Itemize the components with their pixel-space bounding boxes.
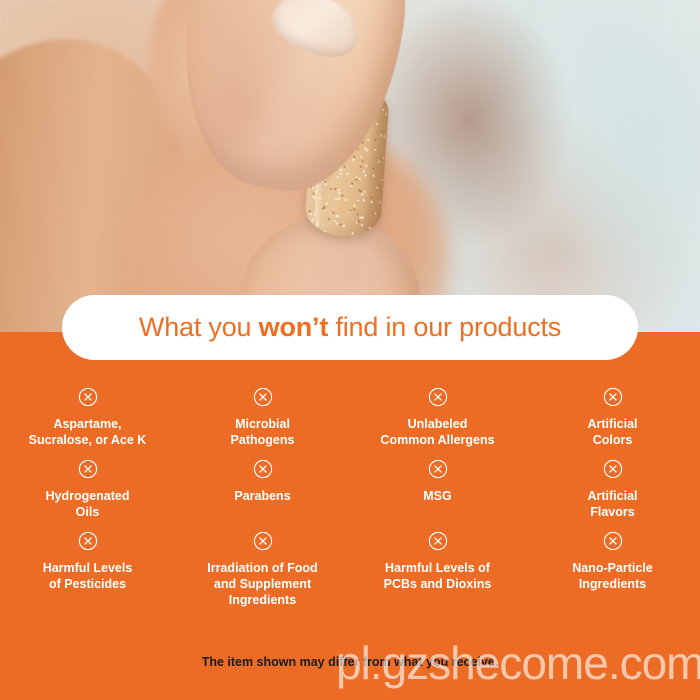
- list-item-label: Aspartame,Sucralose, or Ace K: [29, 416, 147, 448]
- list-item-label: Irradiation of Foodand SupplementIngredi…: [207, 560, 317, 608]
- page-title-part2: find in our products: [328, 312, 561, 342]
- circle-x-icon: [78, 531, 98, 551]
- list-item-label: Nano-ParticleIngredients: [572, 560, 653, 592]
- circle-x-icon: [78, 387, 98, 407]
- list-item-label: ArtificialFlavors: [587, 488, 637, 520]
- hand-holding-tablet-photo: [0, 0, 700, 332]
- circle-x-icon: [78, 459, 98, 479]
- list-item: Irradiation of Foodand SupplementIngredi…: [175, 520, 350, 608]
- list-item-label: Parabens: [234, 488, 290, 504]
- list-item: Nano-ParticleIngredients: [525, 520, 700, 608]
- headline-banner: What you won’t find in our products: [62, 295, 638, 360]
- circle-x-icon: [428, 531, 448, 551]
- circle-x-icon: [253, 459, 273, 479]
- page-title-emphasis: won’t: [259, 312, 328, 342]
- circle-x-icon: [253, 531, 273, 551]
- list-item: Aspartame,Sucralose, or Ace K: [0, 376, 175, 448]
- list-item: Parabens: [175, 448, 350, 520]
- list-item: HydrogenatedOils: [0, 448, 175, 520]
- exclusions-grid: Aspartame,Sucralose, or Ace K MicrobialP…: [0, 376, 700, 608]
- list-item: MicrobialPathogens: [175, 376, 350, 448]
- list-item: UnlabeledCommon Allergens: [350, 376, 525, 448]
- list-item: Harmful Levelsof Pesticides: [0, 520, 175, 608]
- list-item: ArtificialFlavors: [525, 448, 700, 520]
- list-item-label: Harmful Levelsof Pesticides: [43, 560, 133, 592]
- circle-x-icon: [603, 387, 623, 407]
- list-item-label: UnlabeledCommon Allergens: [380, 416, 494, 448]
- disclaimer-text: The item shown may differ from what you …: [0, 655, 700, 669]
- list-item-label: Harmful Levels ofPCBs and Dioxins: [384, 560, 492, 592]
- circle-x-icon: [603, 531, 623, 551]
- circle-x-icon: [428, 459, 448, 479]
- product-infographic: What you won’t find in our products Aspa…: [0, 0, 700, 700]
- list-item-label: MicrobialPathogens: [231, 416, 295, 448]
- list-item: ArtificialColors: [525, 376, 700, 448]
- page-title-part1: What you: [139, 312, 259, 342]
- circle-x-icon: [253, 387, 273, 407]
- list-item: MSG: [350, 448, 525, 520]
- circle-x-icon: [428, 387, 448, 407]
- list-item-label: MSG: [423, 488, 451, 504]
- list-item-label: HydrogenatedOils: [45, 488, 129, 520]
- photo-background-cool-blur: [520, 0, 700, 332]
- circle-x-icon: [603, 459, 623, 479]
- list-item: Harmful Levels ofPCBs and Dioxins: [350, 520, 525, 608]
- list-item-label: ArtificialColors: [587, 416, 637, 448]
- page-title: What you won’t find in our products: [139, 312, 561, 343]
